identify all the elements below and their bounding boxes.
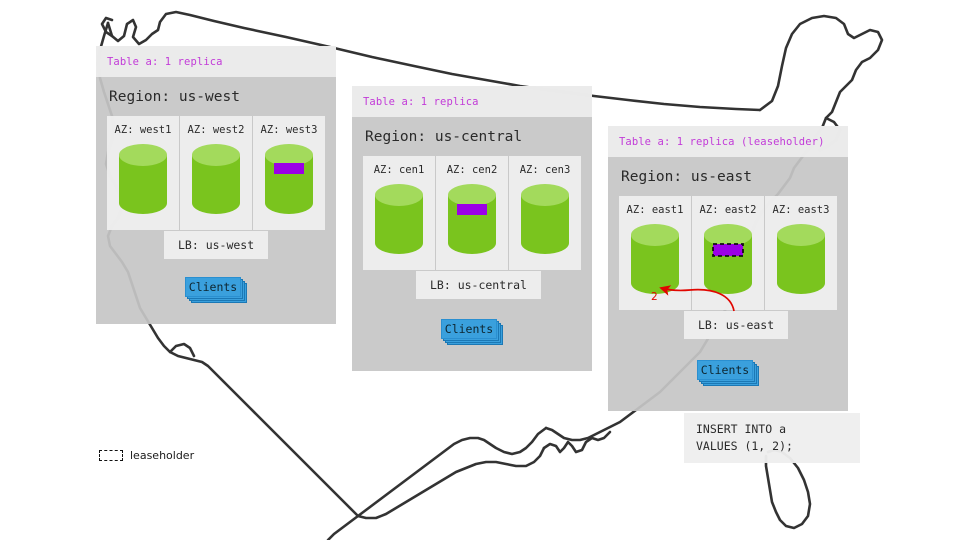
clients-button-label-us-east[interactable]: Clients: [697, 360, 753, 380]
az-label-east3: AZ: east3: [773, 204, 830, 216]
replica-cylinder-cen2[interactable]: [446, 183, 498, 255]
az-label-west3: AZ: west3: [261, 124, 318, 136]
load-balancer-us-east[interactable]: LB: us-east: [684, 311, 788, 339]
clients-button-label-us-west[interactable]: Clients: [185, 277, 241, 297]
clients-button-us-east[interactable]: Clients: [697, 360, 761, 386]
az-label-cen2: AZ: cen2: [447, 164, 498, 176]
az-cell-east3[interactable]: AZ: east3: [764, 196, 837, 310]
panel-header-us-central: Table a: 1 replica: [352, 86, 592, 117]
region-title-us-west: Region: us-west: [107, 77, 325, 116]
az-cell-cen2[interactable]: AZ: cen2: [435, 156, 508, 270]
leaseholder-marker-west3: [274, 163, 304, 174]
az-label-east1: AZ: east1: [627, 204, 684, 216]
region-panel-us-west[interactable]: Table a: 1 replica Region: us-west AZ: w…: [96, 46, 336, 324]
panel-body-us-central: Region: us-central AZ: cen1 AZ: cen2: [352, 117, 592, 282]
replica-cylinder-cen1[interactable]: [373, 183, 425, 255]
leaseholder-marker-cen2: [457, 204, 487, 215]
panel-body-us-east: Region: us-east AZ: east1 AZ: east2: [608, 157, 848, 322]
diagram-stage: Table a: 1 replica Region: us-west AZ: w…: [0, 0, 960, 540]
replica-cylinder-west3[interactable]: [263, 143, 315, 215]
panel-header-us-west: Table a: 1 replica: [96, 46, 336, 77]
region-title-us-central: Region: us-central: [363, 117, 581, 156]
az-cell-cen3[interactable]: AZ: cen3: [508, 156, 581, 270]
az-label-cen1: AZ: cen1: [374, 164, 425, 176]
az-label-east2: AZ: east2: [700, 204, 757, 216]
clients-button-us-central[interactable]: Clients: [441, 319, 505, 345]
region-panel-us-east[interactable]: Table a: 1 replica (leaseholder) Region:…: [608, 126, 848, 411]
region-panel-us-central[interactable]: Table a: 1 replica Region: us-central AZ…: [352, 86, 592, 371]
az-cell-west3[interactable]: AZ: west3: [252, 116, 325, 230]
leaseholder-marker-east2: [713, 244, 743, 256]
load-balancer-us-west[interactable]: LB: us-west: [164, 231, 268, 259]
az-row-us-central: AZ: cen1 AZ: cen2: [363, 156, 581, 270]
az-cell-west2[interactable]: AZ: west2: [179, 116, 252, 230]
replica-cylinder-west1[interactable]: [117, 143, 169, 215]
clients-button-us-west[interactable]: Clients: [185, 277, 249, 303]
clients-button-label-us-central[interactable]: Clients: [441, 319, 497, 339]
az-row-us-west: AZ: west1 AZ: west2: [107, 116, 325, 230]
replica-cylinder-cen3[interactable]: [519, 183, 571, 255]
replica-cylinder-east3[interactable]: [775, 223, 827, 295]
az-cell-east2[interactable]: AZ: east2: [691, 196, 764, 310]
replica-cylinder-east1[interactable]: [629, 223, 681, 295]
az-cell-west1[interactable]: AZ: west1: [107, 116, 179, 230]
sql-statement-note: INSERT INTO a VALUES (1, 2);: [684, 413, 860, 463]
arrow-step-label: 2: [651, 291, 658, 303]
legend-label: leaseholder: [130, 449, 194, 462]
region-title-us-east: Region: us-east: [619, 157, 837, 196]
legend: leaseholder: [99, 449, 194, 462]
load-balancer-us-central[interactable]: LB: us-central: [416, 271, 541, 299]
panel-body-us-west: Region: us-west AZ: west1 AZ: west2: [96, 77, 336, 242]
az-cell-cen1[interactable]: AZ: cen1: [363, 156, 435, 270]
az-label-west1: AZ: west1: [115, 124, 172, 136]
leaseholder-swatch-icon: [99, 450, 123, 461]
panel-header-us-east: Table a: 1 replica (leaseholder): [608, 126, 848, 157]
replica-cylinder-east2[interactable]: [702, 223, 754, 295]
az-label-west2: AZ: west2: [188, 124, 245, 136]
replica-cylinder-west2[interactable]: [190, 143, 242, 215]
az-label-cen3: AZ: cen3: [520, 164, 571, 176]
